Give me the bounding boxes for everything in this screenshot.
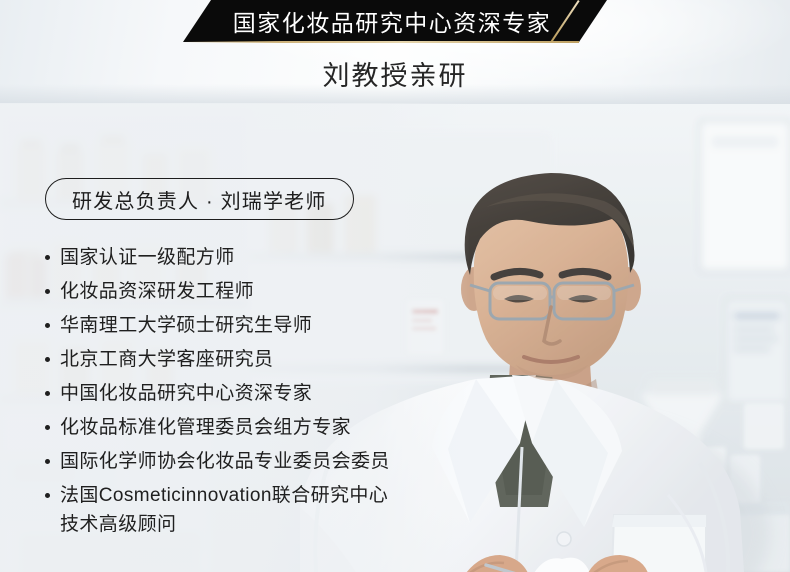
banner-gold-underline [183, 41, 579, 43]
credential-text: 法国Cosmeticinnovation联合研究中心 [60, 485, 388, 506]
page-subtitle: 刘教授亲研 [0, 54, 790, 93]
header-banner: 国家化妆品研究中心资深专家 [183, 0, 607, 42]
promo-page: 国家化妆品研究中心资深专家 刘教授亲研 研发总负责人 · 刘瑞学老师 国家认证一… [0, 0, 790, 572]
bullet-icon [45, 357, 50, 362]
credential-text: 化妆品资深研发工程师 [60, 281, 254, 302]
bullet-icon [45, 459, 50, 464]
list-item: 国家认证一级配方师 [42, 243, 462, 272]
list-item: 国际化学师协会化妆品专业委员会委员 [42, 447, 462, 476]
bullet-icon [45, 289, 50, 294]
credential-text: 华南理工大学硕士研究生导师 [60, 315, 312, 336]
credential-text: 国家认证一级配方师 [60, 247, 235, 268]
bullet-icon [45, 255, 50, 260]
bullet-icon [45, 425, 50, 430]
bullet-icon [45, 391, 50, 396]
role-badge: 研发总负责人 · 刘瑞学老师 [45, 178, 354, 220]
credential-text: 化妆品标准化管理委员会组方专家 [60, 417, 351, 438]
credential-text: 国际化学师协会化妆品专业委员会委员 [60, 451, 390, 472]
credential-text: 中国化妆品研究中心资深专家 [60, 383, 312, 404]
bullet-icon [45, 493, 50, 498]
list-item: 化妆品标准化管理委员会组方专家 [42, 413, 462, 442]
list-item: 北京工商大学客座研究员 [42, 345, 462, 374]
credential-text-continued: 技术高级顾问 [60, 510, 462, 539]
list-item: 中国化妆品研究中心资深专家 [42, 379, 462, 408]
list-item: 华南理工大学硕士研究生导师 [42, 311, 462, 340]
header-banner-title: 国家化妆品研究中心资深专家 [183, 0, 607, 42]
credential-text: 北京工商大学客座研究员 [60, 349, 273, 370]
bullet-icon [45, 323, 50, 328]
list-item: 化妆品资深研发工程师 [42, 277, 462, 306]
credentials-list: 国家认证一级配方师 化妆品资深研发工程师 华南理工大学硕士研究生导师 北京工商大… [42, 243, 462, 544]
list-item: 法国Cosmeticinnovation联合研究中心 技术高级顾问 [42, 481, 462, 539]
